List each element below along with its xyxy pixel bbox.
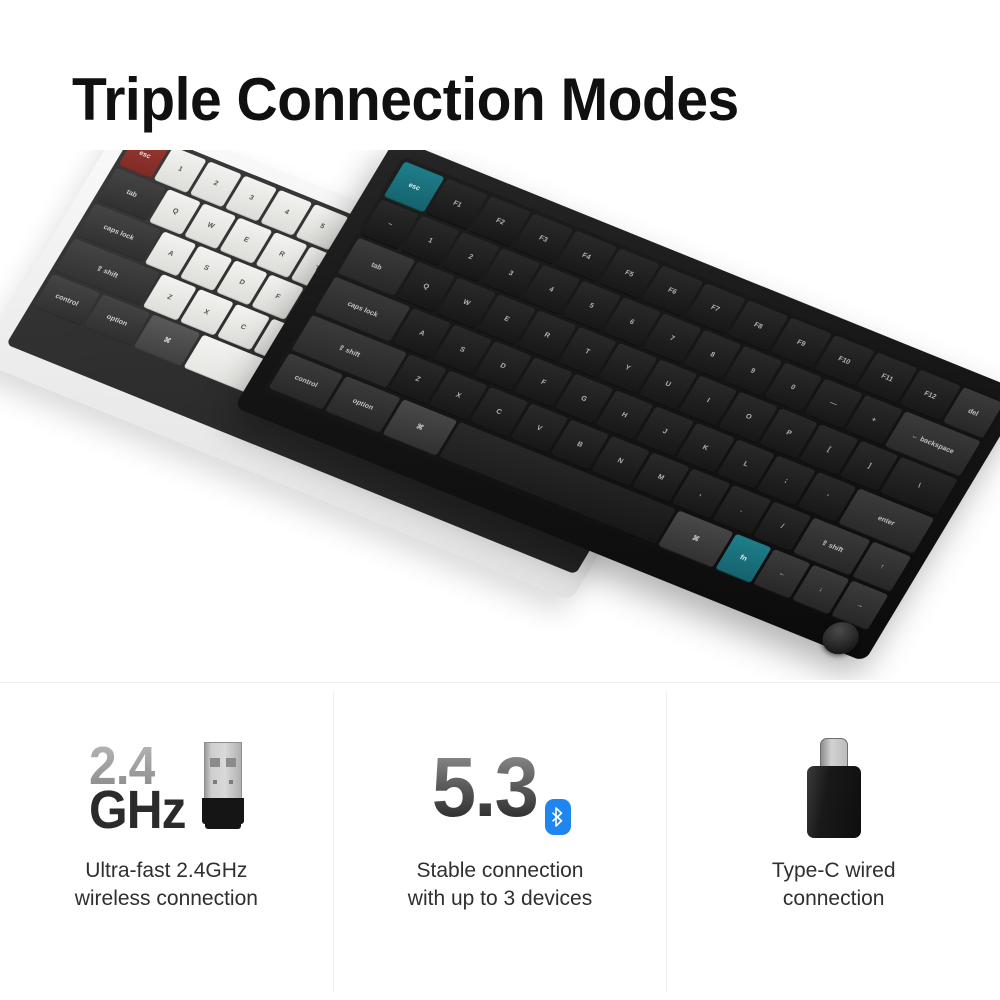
usb-dongle-dot	[213, 780, 217, 784]
usb-dongle-dot	[229, 780, 233, 784]
hero-product-image: esc1234567890—+← backspacedeltabQWERTYUI…	[0, 150, 1000, 680]
feature-caption: Stable connection with up to 3 devices	[408, 857, 592, 912]
type-c-tip	[820, 738, 848, 768]
usb-dongle-pin	[210, 758, 220, 767]
dark-keyboard: escF1F2F3F4F5F6F7F8F9F10F11F12del~123456…	[234, 150, 1000, 662]
ghz-unit: GHz	[89, 788, 186, 832]
ghz-lockup: 2.4 GHz	[89, 744, 186, 833]
marketing-page: Triple Connection Modes esc1234567890—+←…	[0, 0, 1000, 1000]
usb-type-c-icon	[807, 738, 861, 838]
feature-caption: Ultra-fast 2.4GHz wireless connection	[75, 857, 258, 912]
page-title: Triple Connection Modes	[72, 68, 739, 131]
badge-type-c	[807, 733, 861, 843]
usb-dongle-pin	[226, 758, 236, 767]
bluetooth-icon	[545, 799, 571, 835]
feature-caption: Type-C wired connection	[772, 857, 896, 912]
badge-bluetooth: 5.3	[429, 733, 572, 843]
bluetooth-version-number: 5.3	[431, 750, 536, 826]
usb-dongle-icon	[202, 742, 244, 834]
usb-dongle-connector	[204, 742, 242, 800]
feature-wireless-24ghz: 2.4 GHz Ultra-fast 2.4GHz wireless conne…	[0, 683, 333, 1000]
badge-24ghz: 2.4 GHz	[89, 733, 244, 843]
usb-dongle-foot	[205, 822, 241, 829]
usb-dongle-body	[202, 798, 244, 824]
feature-type-c-wired: Type-C wired connection	[667, 683, 1000, 1000]
type-c-shell	[807, 766, 861, 838]
feature-bluetooth-53: 5.3 Stable connection with up to 3 devic…	[334, 683, 667, 1000]
feature-list: 2.4 GHz Ultra-fast 2.4GHz wireless conne…	[0, 683, 1000, 1000]
